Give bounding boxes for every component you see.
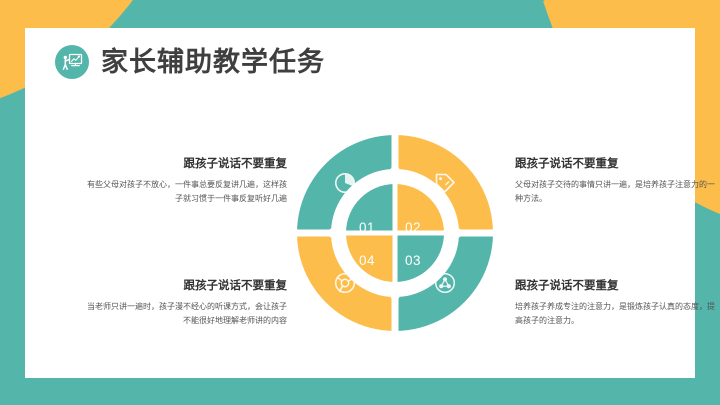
- info-heading: 跟孩子说话不要重复: [87, 158, 287, 172]
- info-block-top-right: 跟孩子说话不要重复 父母对孩子交待的事情只讲一遍，是培养孩子注意力的一种方法。: [515, 158, 715, 206]
- info-heading: 跟孩子说话不要重复: [87, 280, 287, 294]
- info-heading: 跟孩子说话不要重复: [515, 280, 715, 294]
- slide-root: 家长辅助教学任务 跟孩子说话不要重复 有些父母对孩子不放心，一件事总要反复讲几遍…: [0, 0, 720, 405]
- wheel-number-02: 02: [405, 220, 421, 235]
- content-card: 家长辅助教学任务 跟孩子说话不要重复 有些父母对孩子不放心，一件事总要反复讲几遍…: [25, 28, 695, 378]
- info-body: 父母对孩子交待的事情只讲一遍，是培养孩子注意力的一种方法。: [515, 178, 715, 206]
- page-title: 家长辅助教学任务: [101, 49, 325, 76]
- wheel-number-03: 03: [405, 253, 421, 268]
- info-heading: 跟孩子说话不要重复: [515, 158, 715, 172]
- info-block-bottom-left: 跟孩子说话不要重复 当老师只讲一遍时，孩子漫不经心的听课方式，会让孩子不能很好地…: [87, 280, 287, 328]
- info-body: 有些父母对孩子不放心，一件事总要反复讲几遍，这样孩子就习惯于一件事反复听好几遍: [87, 178, 287, 206]
- info-block-top-left: 跟孩子说话不要重复 有些父母对孩子不放心，一件事总要反复讲几遍，这样孩子就习惯于…: [87, 158, 287, 206]
- info-body: 当老师只讲一遍时，孩子漫不经心的听课方式，会让孩子不能很好地理解老师讲的内容: [87, 300, 287, 328]
- slide-header: 家长辅助教学任务: [55, 45, 325, 79]
- wheel-number-04: 04: [359, 253, 375, 268]
- info-block-bottom-right: 跟孩子说话不要重复 培养孩子养成专注的注意力，是锻炼孩子认真的态度，提高孩子的注…: [515, 280, 715, 328]
- info-body: 培养孩子养成专注的注意力，是锻炼孩子认真的态度，提高孩子的注意力。: [515, 300, 715, 328]
- circular-wheel-diagram: 01 02 03 04: [297, 135, 493, 331]
- wheel-number-01: 01: [359, 220, 375, 235]
- presentation-teacher-icon: [55, 45, 89, 79]
